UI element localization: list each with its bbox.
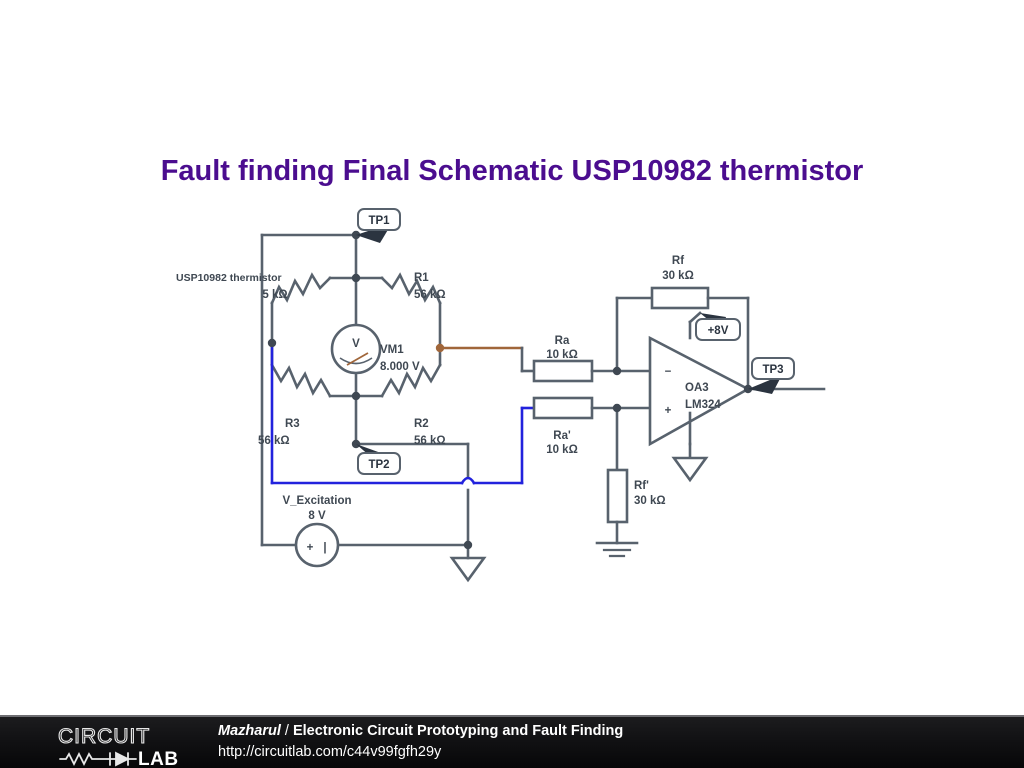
junction-bridge-bottom: [352, 392, 360, 400]
junction-bridge-right: [436, 344, 444, 352]
ground-bridge: [452, 545, 484, 580]
circuitlab-logo: CIRCUIT LAB: [58, 723, 198, 767]
label-ra-ref: Ra: [555, 335, 570, 347]
testpoint-tp1-label: TP1: [368, 215, 390, 227]
label-r3-ref: R3: [285, 418, 300, 430]
page-title: Fault finding Final Schematic USP10982 t…: [0, 155, 1024, 188]
label-ra-prime-ref: Ra': [553, 430, 571, 442]
junction-bridge-left: [268, 339, 276, 347]
label-rf-ref: Rf: [672, 255, 684, 267]
wire-hop: [462, 478, 474, 483]
label-r1-ref: R1: [414, 272, 429, 284]
label-r3-value: 56 kΩ: [258, 435, 290, 447]
testpoint-tp2-label: TP2: [368, 459, 389, 471]
component-voltmeter: V: [332, 325, 380, 373]
opamp-noninverting-sign: +: [665, 405, 672, 417]
label-thermistor-ref: USP10982 thermistor: [176, 272, 282, 284]
ground-earth: [597, 543, 637, 556]
logo-resistor-diode-icon: [60, 753, 136, 765]
voltmeter-glyph: V: [352, 338, 360, 350]
label-rf-prime-ref: Rf': [634, 480, 649, 492]
testpoint-tp2[interactable]: TP2: [356, 444, 400, 474]
component-voltage-source: + |: [296, 524, 338, 566]
label-vm1-ref: VM1: [380, 344, 404, 356]
footer-credit-line: Mazharul / Electronic Circuit Prototypin…: [218, 721, 623, 742]
circuit-schematic: V + | − + TP1: [0, 195, 1024, 605]
footer-text-block: Mazharul / Electronic Circuit Prototypin…: [218, 721, 623, 763]
footer-author: Mazharul: [218, 723, 281, 739]
label-rf-prime-value: 30 kΩ: [634, 495, 666, 507]
opamp-inverting-sign: −: [665, 366, 672, 378]
logo-word-circuit: CIRCUIT: [58, 725, 150, 748]
label-vm1-value: 8.000 V: [380, 361, 420, 373]
label-thermistor-value: 5 kΩ: [262, 289, 287, 301]
wire-orange-ra-drop: [522, 348, 534, 371]
junction-ground-node: [464, 541, 472, 549]
testpoint-tp1[interactable]: TP1: [356, 209, 400, 243]
label-vexc-value: 8 V: [308, 510, 326, 522]
footer-divider: [0, 715, 1024, 717]
source-bar-glyph: |: [323, 542, 326, 554]
supply-rail-label: +8V: [708, 325, 729, 337]
component-ra: [534, 361, 650, 381]
slide-canvas: Fault finding Final Schematic USP10982 t…: [0, 0, 1024, 768]
supply-rail-flag[interactable]: +8V: [696, 313, 740, 340]
footer-separator: /: [281, 723, 293, 739]
label-rf-value: 30 kΩ: [662, 270, 694, 282]
logo-word-lab: LAB: [138, 749, 179, 767]
junction-noninverting-input: [613, 404, 621, 412]
label-ra-prime-value: 10 kΩ: [546, 444, 578, 456]
label-ra-value: 10 kΩ: [546, 349, 578, 361]
testpoint-tp3-label: TP3: [762, 364, 783, 376]
footer-project-title: Electronic Circuit Prototyping and Fault…: [293, 723, 623, 739]
label-opamp-value: LM324: [685, 399, 721, 411]
junction-bridge-top: [352, 274, 360, 282]
source-plus-glyph: +: [307, 542, 314, 554]
label-vexc-ref: V_Excitation: [282, 495, 351, 507]
label-r2-value: 56 kΩ: [414, 435, 446, 447]
label-r2-ref: R2: [414, 418, 429, 430]
label-r1-value: 56 kΩ: [414, 289, 446, 301]
footer-url[interactable]: http://circuitlab.com/c44v99fgfh29y: [218, 742, 623, 763]
component-rf-prime: [608, 408, 627, 543]
footer-bar: CIRCUIT LAB Mazharul / Electronic Circui…: [0, 715, 1024, 768]
label-opamp-ref: OA3: [685, 382, 709, 394]
ground-opamp: [674, 444, 706, 480]
component-ra-prime: [534, 398, 650, 418]
junction-inverting-input: [613, 367, 621, 375]
